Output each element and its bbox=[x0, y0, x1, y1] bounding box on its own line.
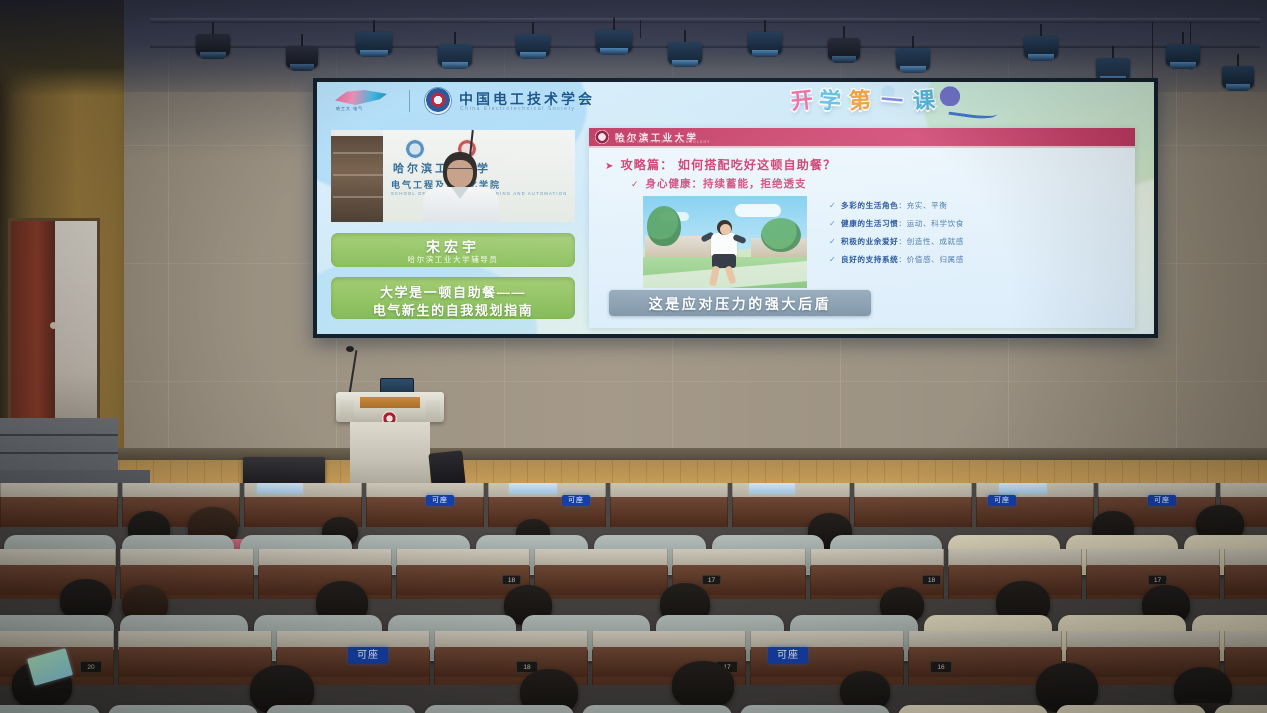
slide-bottom-banner: 这是应对压力的强大后盾 bbox=[609, 290, 871, 316]
auditorium-seat[interactable] bbox=[424, 705, 574, 713]
checklist-value: 充实、平衡 bbox=[907, 201, 948, 210]
checklist-item: ✓健康的生活习惯：运动、科学饮食 bbox=[829, 218, 1125, 236]
auditorium-seat[interactable] bbox=[1214, 705, 1267, 713]
banner-title-char: 课 bbox=[912, 89, 935, 112]
partner-mark-label: 哈工大 电气 bbox=[336, 106, 363, 112]
running-student-illustration bbox=[643, 196, 807, 288]
auditorium-seat[interactable] bbox=[1056, 705, 1206, 713]
check-icon: ✓ bbox=[829, 255, 841, 264]
rigging-cable bbox=[640, 20, 641, 38]
audience-seating-area: 可座 可座 可座 可座 bbox=[0, 483, 1267, 713]
student-desk bbox=[610, 483, 728, 527]
content-subheading: 身心健康：持续蓄能，拒绝透支 bbox=[631, 176, 807, 191]
slide-header: 哈工大 电气 中国电工技术学会 China Electrotechnical S… bbox=[317, 82, 1154, 124]
banner-title-char: 开 bbox=[790, 89, 814, 113]
seat-available-sign: 可座 bbox=[348, 647, 388, 664]
auditorium-seat[interactable] bbox=[108, 705, 258, 713]
slide-banner-title: 开 学 第 一 课 bbox=[789, 84, 1004, 124]
stage-light-icon bbox=[356, 20, 392, 60]
checklist-item: ✓积极的业余爱好：创造性、成就感 bbox=[829, 236, 1125, 254]
audience-head bbox=[672, 661, 734, 709]
photo-bookshelf bbox=[331, 136, 385, 222]
banner-title-char: 一 bbox=[880, 89, 904, 113]
student-desk bbox=[1224, 631, 1267, 685]
door-handle-icon[interactable] bbox=[50, 322, 57, 329]
stage-light-icon bbox=[438, 32, 472, 72]
header-divider bbox=[409, 90, 410, 112]
seat-available-sign: 可座 bbox=[768, 647, 808, 664]
seat-available-sign: 可座 bbox=[426, 495, 454, 506]
seat-available-sign: 可座 bbox=[988, 495, 1016, 506]
podium-speaker-right bbox=[426, 400, 440, 418]
seat-number-plate: 20 bbox=[80, 661, 102, 673]
check-icon: ✓ bbox=[829, 237, 841, 246]
auditorium-seat[interactable] bbox=[740, 705, 890, 713]
student-desk bbox=[366, 483, 484, 527]
lecture-podium bbox=[336, 378, 444, 488]
podium-speaker-left bbox=[340, 400, 354, 418]
auditorium-seat[interactable] bbox=[0, 705, 100, 713]
auditorium-seat[interactable] bbox=[898, 705, 1048, 713]
banner-title-char: 学 bbox=[818, 89, 841, 112]
checklist-label: 多彩的生活角色 bbox=[841, 201, 898, 210]
presentation-slide: 哈工大 电气 中国电工技术学会 China Electrotechnical S… bbox=[317, 82, 1154, 334]
stage-light-icon bbox=[196, 22, 230, 62]
checklist-item: ✓多彩的生活角色：充实、平衡 bbox=[829, 200, 1125, 218]
left-wall-shadow bbox=[0, 0, 124, 96]
banner-title-char: 第 bbox=[848, 89, 871, 112]
content-heading: 攻略篇： 如何搭配吃好这顿自助餐？ bbox=[605, 156, 836, 173]
stage-light-icon bbox=[896, 36, 930, 76]
student-desk bbox=[1224, 549, 1267, 599]
checklist-value: 创造性、成就感 bbox=[907, 237, 964, 246]
rigging-cable bbox=[1152, 22, 1153, 78]
checklist-label: 健康的生活习惯 bbox=[841, 219, 898, 228]
auditorium-seat[interactable] bbox=[582, 705, 732, 713]
bottom-banner-text: 这是应对压力的强大后盾 bbox=[609, 294, 871, 314]
stage-light-icon bbox=[1222, 54, 1254, 94]
slide-left-column: 哈尔滨工业大学 电气工程及自动化学院 SCHOOL OF ELECTRICAL … bbox=[331, 130, 575, 319]
seat-number-plate: 17 bbox=[1148, 575, 1167, 585]
content-checklist: ✓多彩的生活角色：充实、平衡 ✓健康的生活习惯：运动、科学饮食 ✓积极的业余爱好… bbox=[829, 200, 1125, 272]
topic-line-2: 电气新生的自我规划指南 bbox=[331, 300, 575, 319]
title-swoosh-icon bbox=[948, 103, 997, 122]
auditorium-seat[interactable] bbox=[266, 705, 416, 713]
csee-logo-icon: 哈工大 电气 bbox=[335, 90, 393, 114]
speaker-name-plate: 宋宏宇 哈尔滨工业大学辅导员 bbox=[331, 233, 575, 267]
society-seal-icon bbox=[425, 88, 451, 114]
checklist-label: 良好的支持系统 bbox=[841, 255, 898, 264]
student-desk bbox=[810, 549, 944, 599]
checklist-item: ✓良好的支持系统：价值感、归属感 bbox=[829, 254, 1125, 272]
lighting-truss-front bbox=[150, 18, 1260, 23]
side-door-panel[interactable] bbox=[11, 221, 55, 437]
stage-light-icon bbox=[596, 18, 632, 58]
card-rule bbox=[589, 146, 1135, 148]
seat-available-sign: 可座 bbox=[562, 495, 590, 506]
backdrop-seal-icon bbox=[405, 139, 425, 159]
student-desk bbox=[0, 483, 118, 527]
stage-light-icon bbox=[828, 26, 860, 66]
stage-light-icon bbox=[286, 34, 318, 74]
stage-light-icon bbox=[1024, 24, 1058, 64]
lecture-topic-plate: 大学是一顿自助餐—— 电气新生的自我规划指南 bbox=[331, 277, 575, 319]
seat-number-plate: 18 bbox=[922, 575, 941, 585]
side-door-opening bbox=[55, 221, 97, 437]
eyeglasses-icon bbox=[448, 168, 472, 174]
stage-light-icon bbox=[748, 20, 782, 60]
society-name-en: China Electrotechnical Society bbox=[460, 106, 576, 112]
seat-number-plate: 18 bbox=[502, 575, 521, 585]
check-icon: ✓ bbox=[829, 201, 841, 210]
student-desk bbox=[854, 483, 972, 527]
microphone-head-icon bbox=[346, 346, 354, 352]
student-desk bbox=[534, 549, 668, 599]
hit-header-bar: 哈尔滨工业大学 HARBIN INSTITUTE OF TECHNOLOGY bbox=[589, 128, 1135, 146]
checklist-label: 积极的业余爱好 bbox=[841, 237, 898, 246]
auditorium-photo: 哈工大 电气 中国电工技术学会 China Electrotechnical S… bbox=[0, 0, 1267, 713]
checklist-value: 价值感、归属感 bbox=[907, 255, 964, 264]
stage-light-icon bbox=[1166, 32, 1200, 72]
checklist-value: 运动、科学饮食 bbox=[907, 219, 964, 228]
speaker-face bbox=[447, 160, 473, 188]
stage-light-icon bbox=[668, 30, 702, 70]
seat-number-plate: 17 bbox=[702, 575, 721, 585]
podium-nameplate bbox=[360, 397, 420, 408]
check-icon: ✓ bbox=[829, 219, 841, 228]
projection-screen: 哈工大 电气 中国电工技术学会 China Electrotechnical S… bbox=[313, 78, 1158, 338]
podium-base bbox=[350, 422, 430, 488]
speaker-photo: 哈尔滨工业大学 电气工程及自动化学院 SCHOOL OF ELECTRICAL … bbox=[331, 130, 575, 222]
hit-name-en: HARBIN INSTITUTE OF TECHNOLOGY bbox=[616, 140, 711, 144]
seat-available-sign: 可座 bbox=[1148, 495, 1176, 506]
topic-line-1: 大学是一顿自助餐—— bbox=[331, 282, 575, 301]
seat-number-plate: 16 bbox=[930, 661, 952, 673]
hit-seal-icon bbox=[595, 130, 609, 144]
student-desk bbox=[118, 631, 272, 685]
speaker-role: 哈尔滨工业大学辅导员 bbox=[331, 254, 575, 265]
stage-light-icon bbox=[516, 22, 550, 62]
